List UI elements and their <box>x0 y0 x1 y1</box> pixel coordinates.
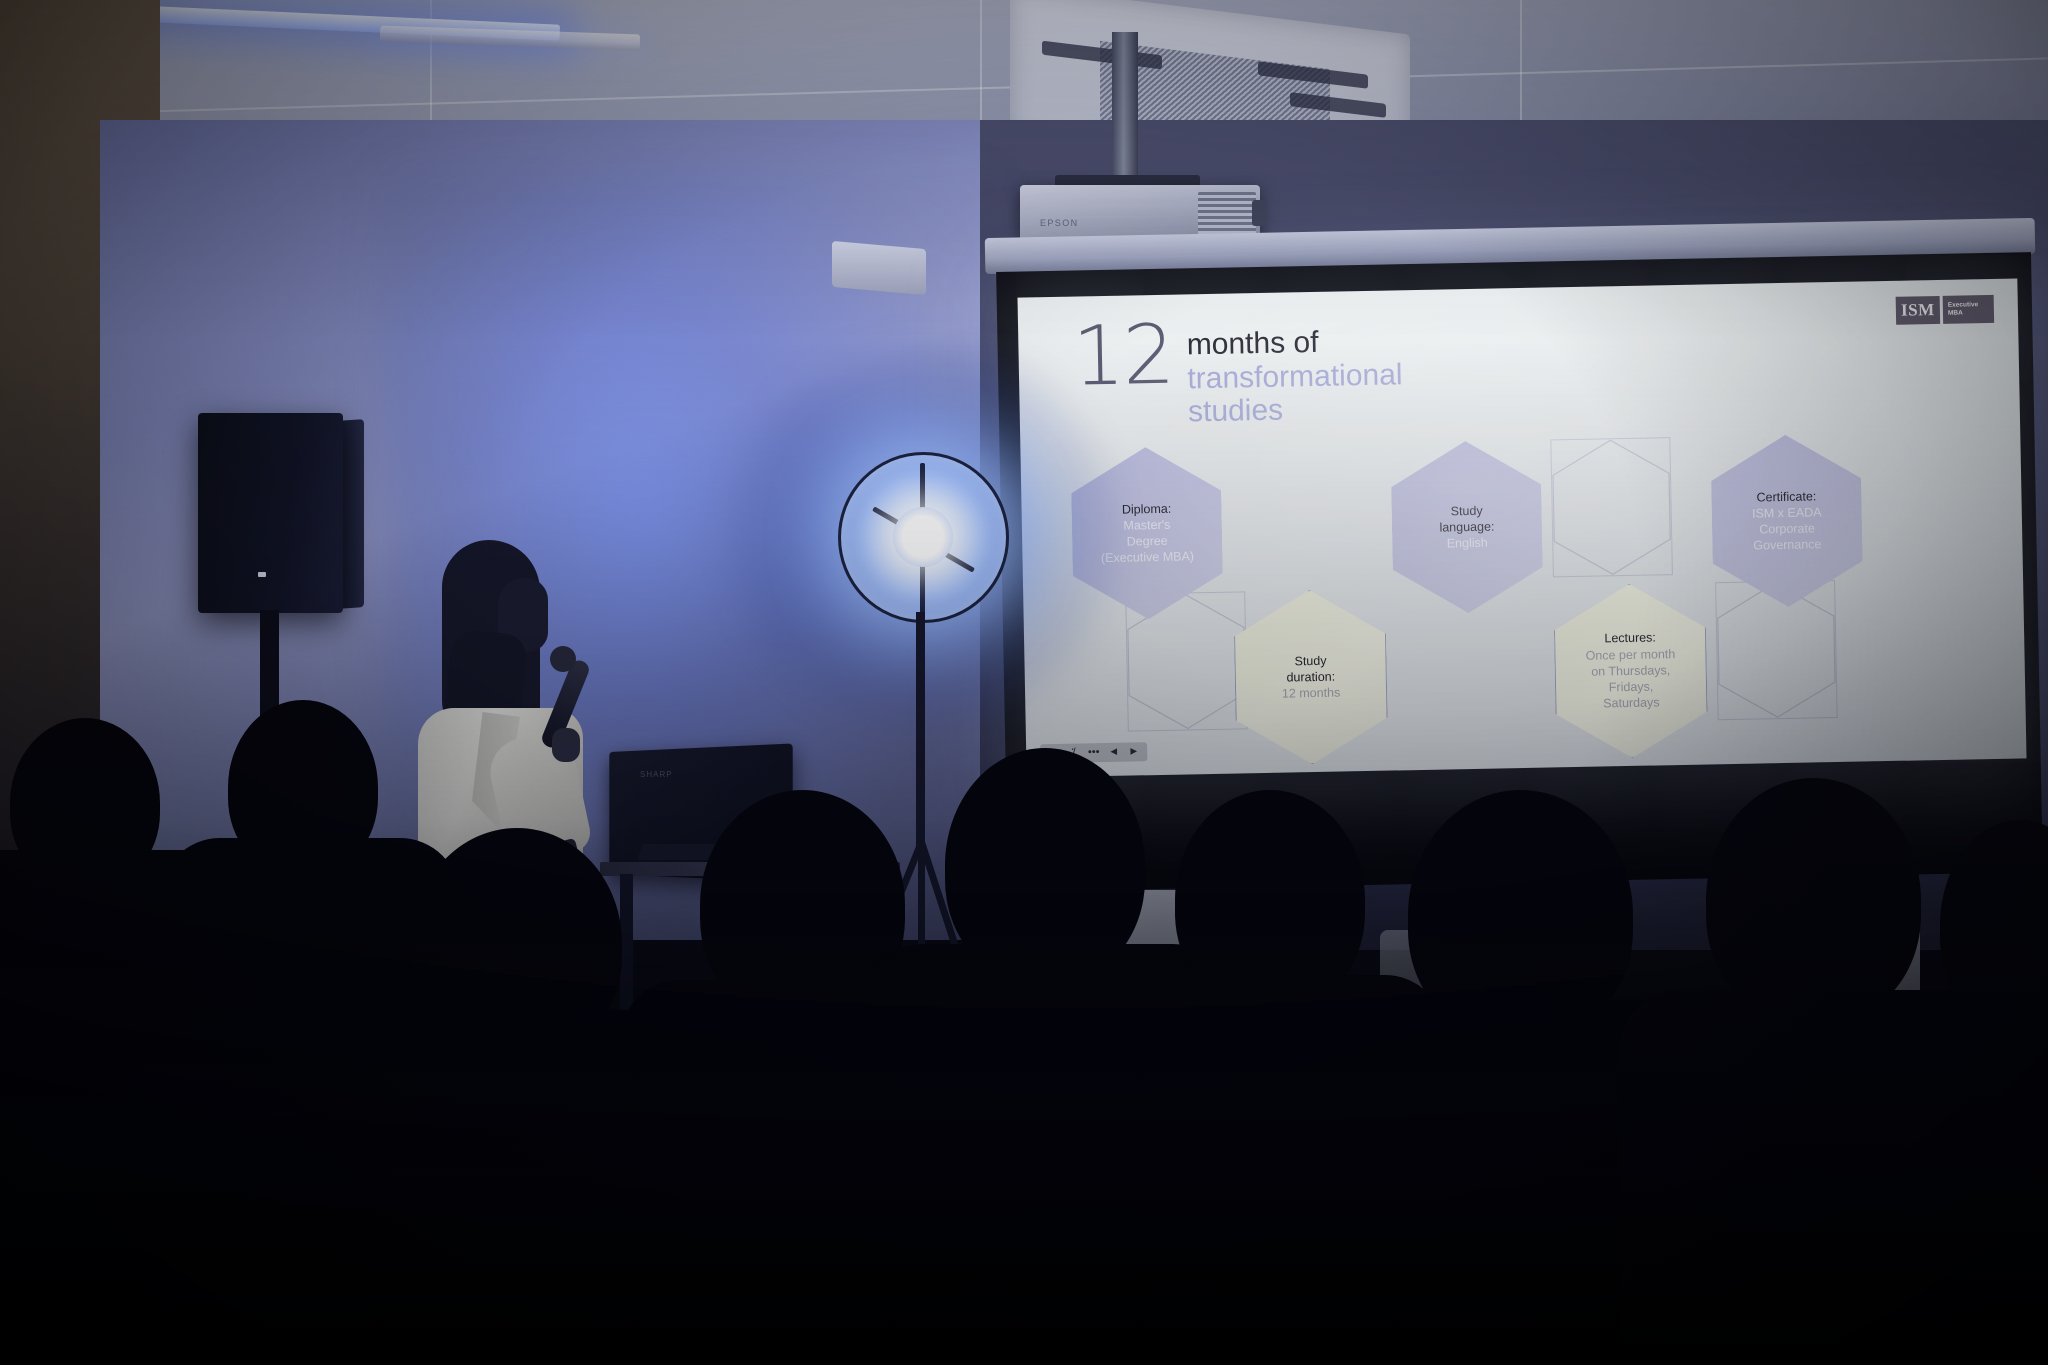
hexagon-certificate-value: ISM x EADA Corporate Governance <box>1752 504 1822 554</box>
empty-hexagon <box>1715 580 1838 720</box>
studio-light-disc <box>838 452 1009 623</box>
slide-title-number: 12 <box>1072 321 1174 393</box>
hexagon-study-language-label: Study language: <box>1439 502 1495 536</box>
microphone-head <box>550 646 576 672</box>
studio-light-core <box>893 507 953 567</box>
empty-hexagon-outline <box>1551 438 1672 576</box>
presentation-hall-scene: EPSON ISM Executive MBA 12 months of tra… <box>0 0 2048 1365</box>
slide-title-line2: transformational <box>1187 358 1403 396</box>
projector-pole <box>1112 32 1138 182</box>
hexagon-study-duration[interactable]: Study duration: 12 months <box>1233 589 1388 766</box>
monitor-brand-label: SHARP <box>640 770 673 779</box>
previous-slide-icon[interactable]: ◄ <box>1107 746 1120 759</box>
hexagon-lectures-content: Lectures: Once per month on Thursdays, F… <box>1577 629 1684 712</box>
hexagon-certificate-label: Certificate: <box>1752 488 1822 506</box>
hexagon-honeycomb: Diploma: Master's Degree (Executive MBA)… <box>1060 419 1996 767</box>
projector-lens <box>1252 200 1266 226</box>
slide: ISM Executive MBA 12 months of transform… <box>1017 278 2026 777</box>
logo-sub-line2: MBA <box>1948 309 1963 317</box>
hexagon-study-duration-label: Study duration: <box>1281 652 1340 686</box>
hexagon-certificate-content: Certificate: ISM x EADA Corporate Govern… <box>1744 488 1831 555</box>
hexagon-lectures-value: Once per month on Thursdays, Fridays, Sa… <box>1585 646 1676 713</box>
pa-speaker <box>198 413 343 613</box>
audience-head <box>1706 778 1921 1023</box>
slide-title-lines: months of transformational studies <box>1186 316 1403 429</box>
wall-mounted-speaker <box>832 241 926 295</box>
slide-title: 12 months of transformational studies <box>1072 316 1403 431</box>
pa-speaker-led <box>258 572 266 577</box>
hexagon-study-language-value: English <box>1440 535 1495 552</box>
hexagon-study-duration-content: Study duration: 12 months <box>1273 652 1348 702</box>
slide-title-line1: months of <box>1186 324 1402 362</box>
hexagon-study-duration-value: 12 months <box>1282 685 1341 702</box>
hexagon-study-language[interactable]: Study language: English <box>1390 440 1543 615</box>
presenter-hand-holding-mic <box>552 728 580 762</box>
tripod-leg <box>918 842 925 952</box>
projection-screen: ISM Executive MBA 12 months of transform… <box>1017 278 2026 777</box>
hexagon-lectures-label: Lectures: <box>1585 629 1675 647</box>
studio-light-stem <box>916 612 925 852</box>
empty-hexagon-outline <box>1716 581 1837 719</box>
logo-ism-mark: ISM <box>1896 296 1941 325</box>
hexagon-lectures[interactable]: Lectures: Once per month on Thursdays, F… <box>1553 582 1708 759</box>
empty-hexagon <box>1550 437 1673 577</box>
projector-brand-label: EPSON <box>1040 218 1079 228</box>
next-slide-icon[interactable]: ► <box>1127 745 1140 758</box>
logo-sub-line1: Executive <box>1948 301 1979 310</box>
ism-executive-mba-logo: ISM Executive MBA <box>1896 295 1995 325</box>
logo-executive-mba: Executive MBA <box>1943 295 1995 324</box>
slide-title-line3: studies <box>1188 391 1404 429</box>
menu-icon[interactable]: ••• <box>1087 746 1100 759</box>
audience-shoulders <box>1880 1000 2048 1365</box>
hexagon-study-language-content: Study language: English <box>1431 502 1503 552</box>
